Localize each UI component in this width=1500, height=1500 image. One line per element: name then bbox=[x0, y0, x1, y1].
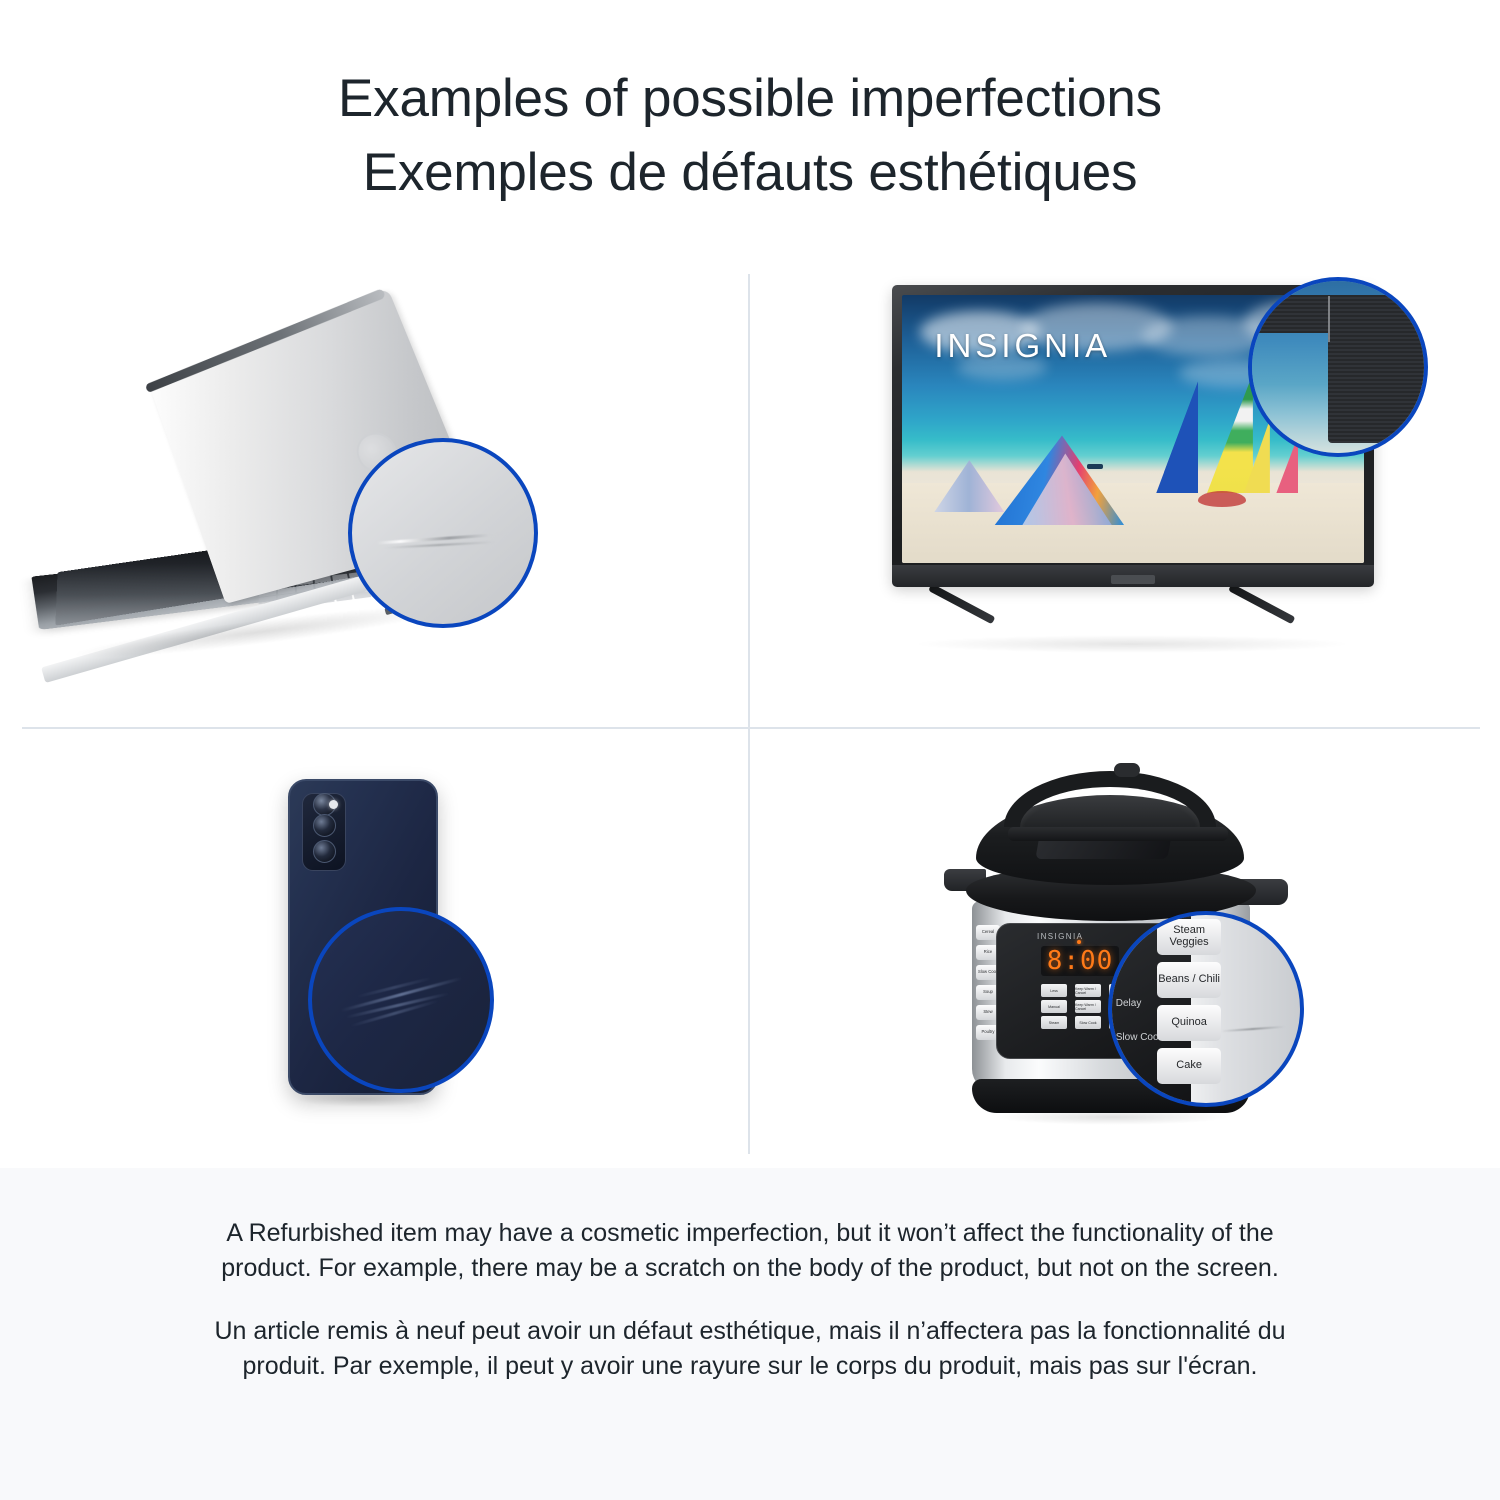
camera-lens-icon bbox=[313, 814, 336, 837]
description-french: Un article remis à neuf peut avoir un dé… bbox=[180, 1314, 1320, 1384]
cooker-lid-handle bbox=[1004, 771, 1216, 827]
description-english: A Refurbished item may have a cosmetic i… bbox=[180, 1216, 1320, 1286]
pressure-cooker-example-cell: Cereal Rice Slow Cook Soup Stew Poultry … bbox=[752, 731, 1500, 1168]
cooker-button[interactable]: Quinoa bbox=[1157, 1005, 1221, 1041]
camera-lens-icon bbox=[313, 840, 336, 863]
tv-zoom-corner-bezel bbox=[1328, 295, 1424, 443]
smartphone-camera-module bbox=[302, 793, 346, 871]
cooker-button[interactable]: Steam Veggies bbox=[1157, 919, 1221, 955]
pressure-cooker-illustration: Cereal Rice Slow Cook Soup Stew Poultry … bbox=[942, 761, 1322, 1131]
page-title-english: Examples of possible imperfections bbox=[338, 62, 1162, 136]
magnifier-circle-tv-bezel bbox=[1248, 277, 1428, 457]
refurbished-imperfections-infographic: Examples of possible imperfections Exemp… bbox=[0, 0, 1500, 1500]
magnifier-circle-laptop-scratch bbox=[348, 438, 538, 628]
laptop-illustration bbox=[30, 320, 570, 650]
laptop-example-cell bbox=[0, 250, 748, 727]
grid-divider-horizontal bbox=[22, 727, 1480, 729]
cooker-button[interactable]: Steam bbox=[1041, 1016, 1067, 1029]
grid-divider-vertical bbox=[748, 274, 750, 1154]
smartphone-illustration bbox=[248, 779, 498, 1119]
cooker-zoom-button-column: Steam Veggies Beans / Chili Quinoa Cake bbox=[1157, 915, 1221, 1084]
tv-bottom-bezel bbox=[892, 565, 1374, 587]
cooker-button[interactable]: Cake bbox=[1157, 1048, 1221, 1084]
examples-grid: INSIGNIA bbox=[0, 250, 1500, 1168]
cooker-button[interactable]: Slow Cook bbox=[1075, 1016, 1101, 1029]
cooker-timer-value: 8:00 bbox=[1047, 946, 1114, 976]
page-title-french: Exemples de défauts esthétiques bbox=[363, 136, 1138, 210]
beach-canoe bbox=[1198, 491, 1246, 507]
cooker-button[interactable]: Keep Warm / Cancel bbox=[1075, 984, 1101, 997]
cooker-button[interactable]: Keep Warm / Cancel bbox=[1075, 1000, 1101, 1013]
cooker-brand-label: INSIGNIA bbox=[1037, 932, 1083, 941]
smartphone-shadow bbox=[296, 1091, 432, 1107]
tv-bezel-defect-mark bbox=[1328, 296, 1330, 342]
page-header: Examples of possible imperfections Exemp… bbox=[0, 0, 1500, 250]
cooker-scratch-mark bbox=[1221, 1026, 1285, 1032]
tv-shadow bbox=[912, 635, 1352, 653]
cooker-status-indicator bbox=[1077, 940, 1081, 944]
blue-sailboat bbox=[1156, 381, 1198, 493]
cooker-zoom-side-label: Delay bbox=[1116, 998, 1142, 1009]
magnifier-circle-phone-scratches bbox=[308, 907, 494, 1093]
camera-flash-icon bbox=[329, 800, 338, 809]
tv-illustration: INSIGNIA bbox=[892, 285, 1392, 675]
smartphone-example-cell bbox=[0, 731, 748, 1168]
description-section: A Refurbished item may have a cosmetic i… bbox=[0, 1168, 1500, 1500]
green-striped-sailboat bbox=[1207, 373, 1253, 493]
cooker-button[interactable]: Less bbox=[1041, 984, 1067, 997]
magnifier-circle-cooker-scratch: Delay Slow Cook Steam Veggies Beans / Ch… bbox=[1108, 911, 1304, 1107]
tv-screen-brand-logo: INSIGNIA bbox=[934, 327, 1111, 365]
cooker-shadow bbox=[994, 1109, 1230, 1125]
cooker-button[interactable]: Beans / Chili bbox=[1157, 962, 1221, 998]
cooker-button[interactable]: Manual bbox=[1041, 1000, 1067, 1013]
cooker-led-display: 8:00 bbox=[1041, 946, 1119, 976]
tv-brand-badge bbox=[1111, 575, 1155, 584]
cooker-pressure-valve-icon bbox=[1114, 763, 1140, 777]
tv-example-cell: INSIGNIA bbox=[752, 250, 1500, 727]
distant-boat bbox=[1087, 464, 1103, 469]
